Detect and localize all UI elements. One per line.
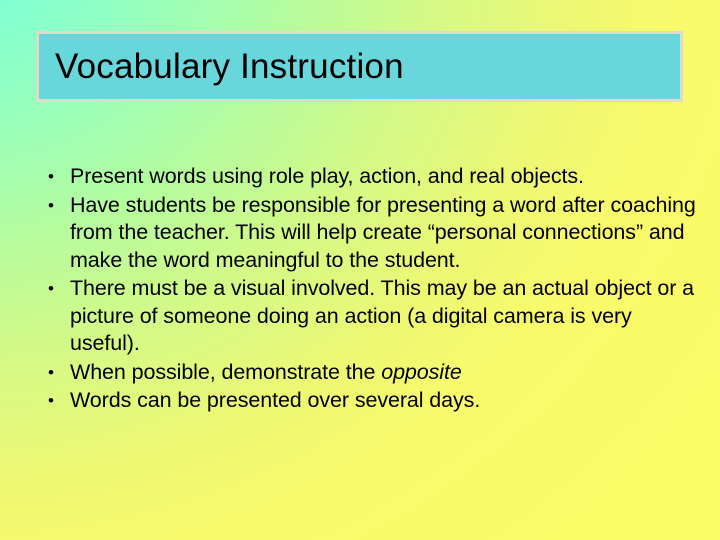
bullet-text: Have students be responsible for present…	[70, 193, 696, 272]
bullet-marker-icon: •	[48, 387, 54, 415]
bullet-text: When possible, demonstrate the	[70, 360, 381, 384]
slide-body: • Present words using role play, action,…	[36, 163, 698, 416]
bullet-marker-icon: •	[48, 163, 54, 191]
bullet-marker-icon: •	[48, 359, 54, 387]
bullet-item: • Words can be presented over several da…	[36, 387, 698, 415]
bullet-text: There must be a visual involved. This ma…	[70, 276, 694, 355]
bullet-item: • Present words using role play, action,…	[36, 163, 698, 191]
bullet-marker-icon: •	[48, 275, 54, 303]
slide-title-box: Vocabulary Instruction	[36, 31, 683, 102]
bullet-list: • Present words using role play, action,…	[36, 163, 698, 415]
bullet-item: • When possible, demonstrate the opposit…	[36, 359, 698, 387]
bullet-text: Words can be presented over several days…	[70, 388, 480, 412]
bullet-marker-icon: •	[48, 192, 54, 220]
slide-title: Vocabulary Instruction	[39, 49, 404, 84]
bullet-item: • Have students be responsible for prese…	[36, 192, 698, 275]
bullet-text: Present words using role play, action, a…	[70, 164, 584, 188]
bullet-emphasis: opposite	[381, 360, 462, 384]
presentation-slide: Vocabulary Instruction • Present words u…	[0, 0, 720, 540]
bullet-item: • There must be a visual involved. This …	[36, 275, 698, 358]
